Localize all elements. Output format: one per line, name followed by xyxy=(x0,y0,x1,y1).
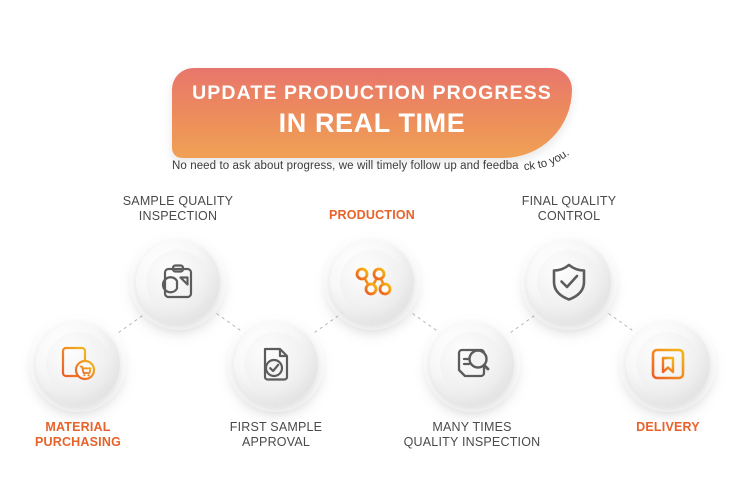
step-node-material-purchasing[interactable] xyxy=(36,322,120,406)
document-cart-icon xyxy=(58,344,98,384)
step-label-many-times-quality-inspection: MANY TIMES QUALITY INSPECTION xyxy=(392,420,552,450)
banner-subtitle: No need to ask about progress, we will t… xyxy=(172,160,519,172)
step-node-production[interactable] xyxy=(330,240,414,324)
node-inner-surface xyxy=(244,332,308,396)
package-box-icon xyxy=(648,344,688,384)
step-node-final-quality-control[interactable] xyxy=(527,240,611,324)
node-inner-surface xyxy=(146,250,210,314)
node-inner-surface xyxy=(46,332,110,396)
node-inner-surface xyxy=(440,332,504,396)
step-label-delivery: DELIVERY xyxy=(588,420,748,435)
document-magnifier-icon xyxy=(451,343,493,385)
node-inner-surface xyxy=(537,250,601,314)
node-inner-surface xyxy=(636,332,700,396)
step-node-delivery[interactable] xyxy=(626,322,710,406)
network-nodes-icon xyxy=(351,261,393,303)
step-label-production: PRODUCTION xyxy=(292,208,452,223)
step-label-final-quality-control: FINAL QUALITY CONTROL xyxy=(489,194,649,224)
step-node-sample-quality-inspection[interactable] xyxy=(136,240,220,324)
clipboard-piechart-icon xyxy=(158,262,198,302)
step-node-first-sample-approval[interactable] xyxy=(234,322,318,406)
step-node-many-times-quality-inspection[interactable] xyxy=(430,322,514,406)
step-label-sample-quality-inspection: SAMPLE QUALITY INSPECTION xyxy=(98,194,258,224)
node-inner-surface xyxy=(340,250,404,314)
document-check-icon xyxy=(256,344,296,384)
banner-title-line-1: UPDATE PRODUCTION PROGRESS xyxy=(172,82,572,105)
banner-title-line-2: IN REAL TIME xyxy=(172,108,572,139)
headline-banner: UPDATE PRODUCTION PROGRESS IN REAL TIME xyxy=(172,68,572,158)
infographic-canvas: UPDATE PRODUCTION PROGRESS IN REAL TIME … xyxy=(0,0,750,493)
step-label-first-sample-approval: FIRST SAMPLE APPROVAL xyxy=(196,420,356,450)
step-label-material-purchasing: MATERIAL PURCHASING xyxy=(0,420,156,450)
shield-check-icon xyxy=(548,261,590,303)
